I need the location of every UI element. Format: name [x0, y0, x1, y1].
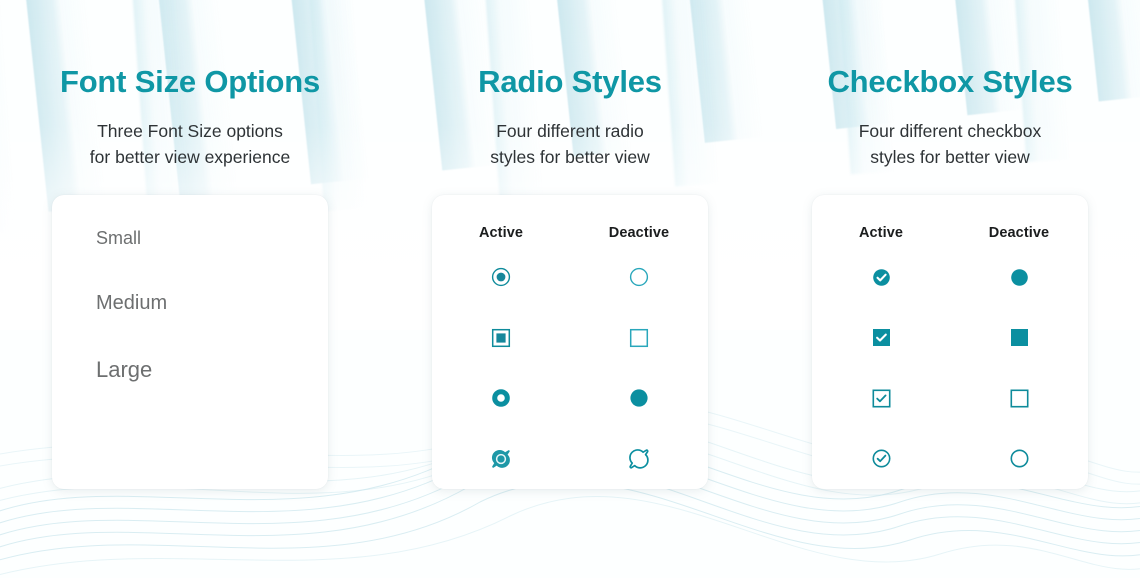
font-size-list: Small Medium Large [52, 195, 328, 489]
checkbox-circle-outline-icon[interactable] [1002, 442, 1036, 476]
radio-square-checked-icon[interactable] [484, 321, 518, 355]
panel-subtitle-line: Four different checkbox [859, 119, 1042, 145]
checkbox-styles-grid: Active Deactive [812, 195, 1088, 489]
checkbox-styles-card: Active Deactive [812, 195, 1088, 489]
radio-circle-filled-icon[interactable] [622, 381, 656, 415]
checkbox-circle-outline-check-icon[interactable] [864, 442, 898, 476]
radio-circle-empty-icon[interactable] [622, 260, 656, 294]
panel-subtitle: Three Font Size options for better view … [90, 119, 290, 171]
checkbox-circle-filled-check-icon[interactable] [864, 260, 898, 294]
font-size-option-medium[interactable]: Medium [96, 293, 328, 313]
checkbox-square-outline-check-icon[interactable] [864, 381, 898, 415]
page-title: Checkbox Styles [827, 66, 1072, 97]
column-header-active: Active [859, 225, 903, 247]
page-root: Font Size Options Three Font Size option… [0, 0, 1140, 578]
panel-subtitle-line: for better view experience [90, 145, 290, 171]
panel-subtitle-line: styles for better view [859, 145, 1042, 171]
column-header-active: Active [479, 225, 523, 247]
radio-donut-ring-icon[interactable] [484, 381, 518, 415]
radio-styles-grid: Active Deactive [432, 195, 708, 489]
checkbox-square-outline-icon[interactable] [1002, 381, 1036, 415]
radio-styles-card: Active Deactive [432, 195, 708, 489]
panel-radio-styles: Radio Styles Four different radio styles… [380, 0, 760, 489]
panel-subtitle-line: Three Font Size options [90, 119, 290, 145]
font-size-option-small[interactable]: Small [96, 229, 328, 247]
panel-checkbox-styles: Checkbox Styles Four different checkbox … [760, 0, 1140, 489]
radio-circle-checked-icon[interactable] [484, 260, 518, 294]
checkbox-square-filled-icon[interactable] [1002, 321, 1036, 355]
checkbox-square-filled-check-icon[interactable] [864, 321, 898, 355]
checkbox-circle-filled-icon[interactable] [1002, 260, 1036, 294]
radio-slashed-circle-empty-icon[interactable] [622, 442, 656, 476]
panel-subtitle: Four different radio styles for better v… [490, 119, 650, 171]
radio-square-empty-icon[interactable] [622, 321, 656, 355]
page-title: Font Size Options [60, 66, 320, 97]
column-header-deactive: Deactive [609, 225, 669, 247]
radio-slashed-circle-filled-icon[interactable] [484, 442, 518, 476]
columns-container: Font Size Options Three Font Size option… [0, 0, 1140, 489]
panel-subtitle-line: Four different radio [490, 119, 650, 145]
panel-subtitle: Four different checkbox styles for bette… [859, 119, 1042, 171]
panel-font-size-options: Font Size Options Three Font Size option… [0, 0, 380, 489]
font-size-card: Small Medium Large [52, 195, 328, 489]
panel-subtitle-line: styles for better view [490, 145, 650, 171]
page-title: Radio Styles [478, 66, 662, 97]
font-size-option-large[interactable]: Large [96, 359, 328, 381]
column-header-deactive: Deactive [989, 225, 1049, 247]
